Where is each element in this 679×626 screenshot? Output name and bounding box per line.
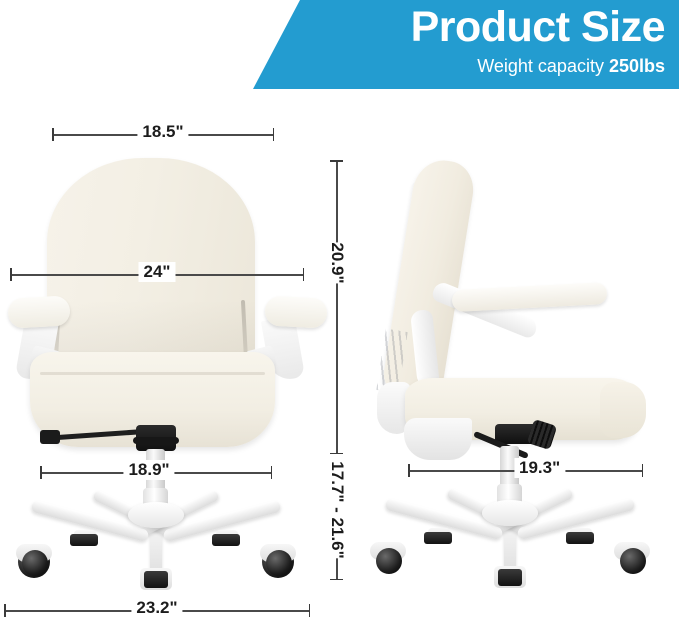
dimension-cap-left (408, 464, 410, 477)
dimension-label-17-7-21-6: 17.7" - 21.6" (322, 461, 352, 558)
dimension-label-24: 24" (139, 262, 176, 282)
dimension-cap-bottom (330, 453, 343, 455)
dimension-label-23-2: 23.2" (131, 598, 182, 618)
seat-rear-frame-side (404, 418, 472, 460)
dimension-cap-top (330, 160, 343, 162)
header-banner: Product Size Weight capacity 250lbs (253, 0, 679, 89)
caster-stem-4 (566, 532, 594, 544)
dimension-label-20-9: 20.9" (322, 243, 352, 284)
banner-title: Product Size (411, 6, 665, 49)
dimension-cap-right (642, 464, 644, 477)
dimension-base-span-upper: 18.9" (40, 466, 272, 480)
caster-stem-1 (70, 534, 98, 546)
base-hub-side (482, 500, 538, 526)
armrest-pad-right (264, 295, 327, 328)
dimension-label-18-9: 18.9" (123, 460, 174, 480)
dimension-cap-left (52, 128, 54, 141)
caster-stem-2 (212, 534, 240, 546)
mechanism-plate-front (133, 437, 179, 444)
caster-tire-left-front (22, 550, 48, 576)
dimension-cap-left (40, 466, 42, 479)
dimension-cap-bottom (330, 579, 343, 581)
caster-tire-right-front (266, 550, 292, 576)
caster-stem-3 (424, 532, 452, 544)
dimension-label-19-3: 19.3" (514, 458, 565, 478)
product-size-infographic: Product Size Weight capacity 250lbs (0, 0, 679, 626)
dimension-armrest-width: 24" (10, 268, 304, 282)
dimension-line (336, 160, 338, 454)
caster-tire-right-side (620, 548, 646, 574)
dimension-cap-right (309, 604, 311, 617)
caster-tire-left-side (376, 548, 402, 574)
dimension-base-span-lower: 23.2" (4, 604, 310, 618)
dimension-backrest-height: 20.9" (330, 160, 344, 454)
dimension-label-18-5: 18.5" (137, 122, 188, 142)
dimension-cap-right (273, 128, 275, 141)
armrest-pad-side (452, 282, 608, 312)
weight-capacity-label: Weight capacity (477, 56, 609, 76)
dimension-base-depth: 19.3" (408, 464, 643, 478)
dimension-cap-right (303, 268, 305, 281)
dimension-backrest-width: 18.5" (52, 128, 274, 142)
seat-crease (40, 372, 265, 375)
seat-front-edge-side (600, 382, 646, 438)
dimension-cap-left (10, 268, 12, 281)
height-adjust-lever-handle (40, 430, 60, 444)
dimension-cap-left (4, 604, 6, 617)
weight-capacity-value: 250lbs (609, 56, 665, 76)
dimension-cap-right (271, 466, 273, 479)
dimension-seat-height-range: 17.7" - 21.6" (330, 462, 344, 580)
armrest-pad-left (7, 295, 70, 328)
banner-subtitle: Weight capacity 250lbs (477, 56, 665, 77)
caster-tire-center-front (144, 571, 168, 588)
base-hub-front (128, 502, 184, 528)
caster-tire-center-side (498, 569, 522, 586)
